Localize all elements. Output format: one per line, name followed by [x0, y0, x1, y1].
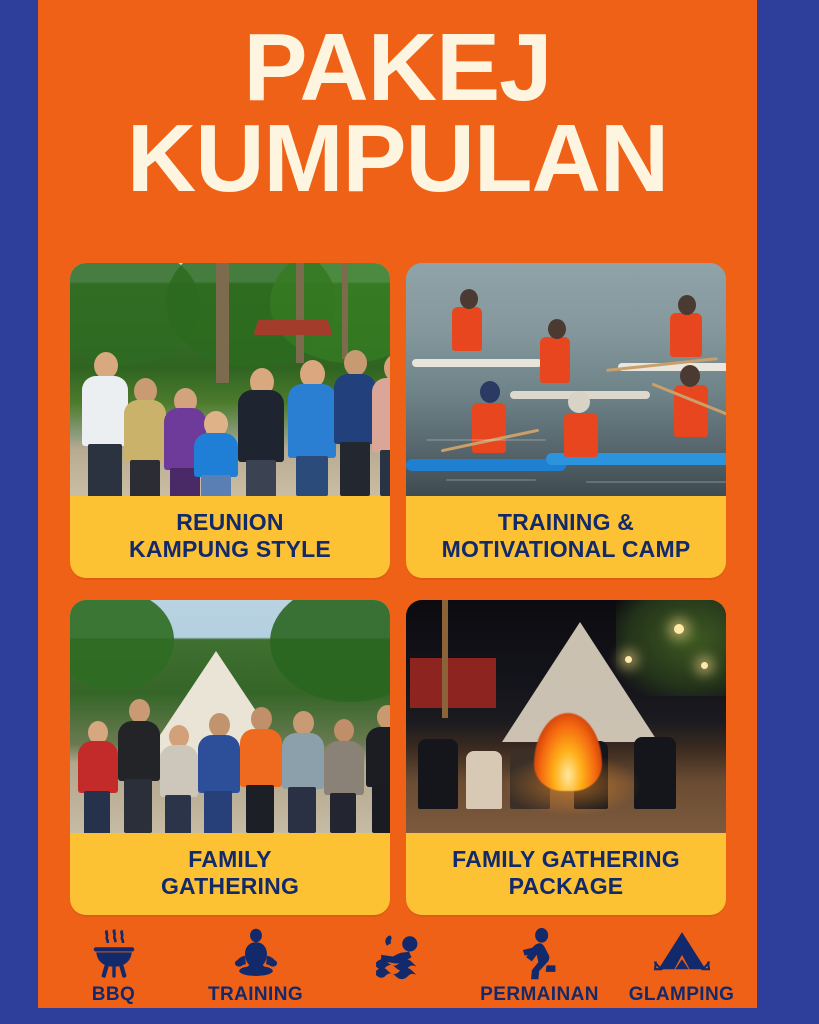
amenity-item-glamping[interactable]: GLAMPING — [623, 926, 741, 1006]
meditation-icon — [229, 926, 283, 982]
amenity-item-swimming[interactable] — [339, 926, 457, 984]
tent-icon — [652, 926, 712, 982]
amenity-label-training: TRAINING — [208, 984, 303, 1006]
amenity-item-bbq[interactable]: BBQ — [55, 926, 173, 1006]
card-label-family-gathering-package: FAMILY GATHERING PACKAGE — [406, 833, 726, 915]
card-photo-campfire — [406, 600, 726, 833]
card-label-line-2: MOTIVATIONAL CAMP — [442, 536, 691, 562]
card-photo-family-gathering — [70, 600, 390, 833]
card-photo-training-camp — [406, 263, 726, 496]
card-label-line-2: KAMPUNG STYLE — [129, 536, 331, 562]
card-label-line-2: PACKAGE — [452, 873, 680, 899]
page-title: PAKEJ KUMPULAN — [38, 22, 757, 204]
amenity-item-permainan[interactable]: PERMAINAN — [481, 926, 599, 1006]
amenity-item-training[interactable]: TRAINING — [197, 926, 315, 1006]
title-line-1: PAKEJ — [38, 22, 757, 113]
card-label-line-1: REUNION — [129, 509, 331, 535]
amenity-label-permainan: PERMAINAN — [480, 984, 599, 1006]
amenity-label-glamping: GLAMPING — [629, 984, 735, 1006]
card-label-training-camp: TRAINING & MOTIVATIONAL CAMP — [406, 496, 726, 578]
card-label-line-2: GATHERING — [161, 873, 299, 899]
package-card-reunion-kampung-style[interactable]: REUNION KAMPUNG STYLE — [70, 263, 390, 578]
poster-root: PAKEJ KUMPULAN — [0, 0, 819, 1024]
card-label-line-1: TRAINING & — [442, 509, 691, 535]
running-icon — [514, 926, 566, 982]
bbq-grill-icon — [87, 926, 141, 982]
swimming-icon — [370, 926, 426, 982]
package-card-training-motivational-camp[interactable]: TRAINING & MOTIVATIONAL CAMP — [406, 263, 726, 578]
card-label-reunion: REUNION KAMPUNG STYLE — [70, 496, 390, 578]
card-label-line-1: FAMILY — [161, 846, 299, 872]
card-label-family-gathering: FAMILY GATHERING — [70, 833, 390, 915]
package-card-family-gathering-package[interactable]: FAMILY GATHERING PACKAGE — [406, 600, 726, 915]
card-photo-reunion — [70, 263, 390, 496]
title-line-2: KUMPULAN — [38, 113, 757, 204]
package-card-family-gathering[interactable]: FAMILY GATHERING — [70, 600, 390, 915]
package-card-grid: REUNION KAMPUNG STYLE — [70, 263, 726, 915]
amenity-icon-strip: BBQ TRAINING — [38, 922, 757, 1008]
amenity-label-bbq: BBQ — [92, 984, 135, 1006]
card-label-line-1: FAMILY GATHERING — [452, 846, 680, 872]
